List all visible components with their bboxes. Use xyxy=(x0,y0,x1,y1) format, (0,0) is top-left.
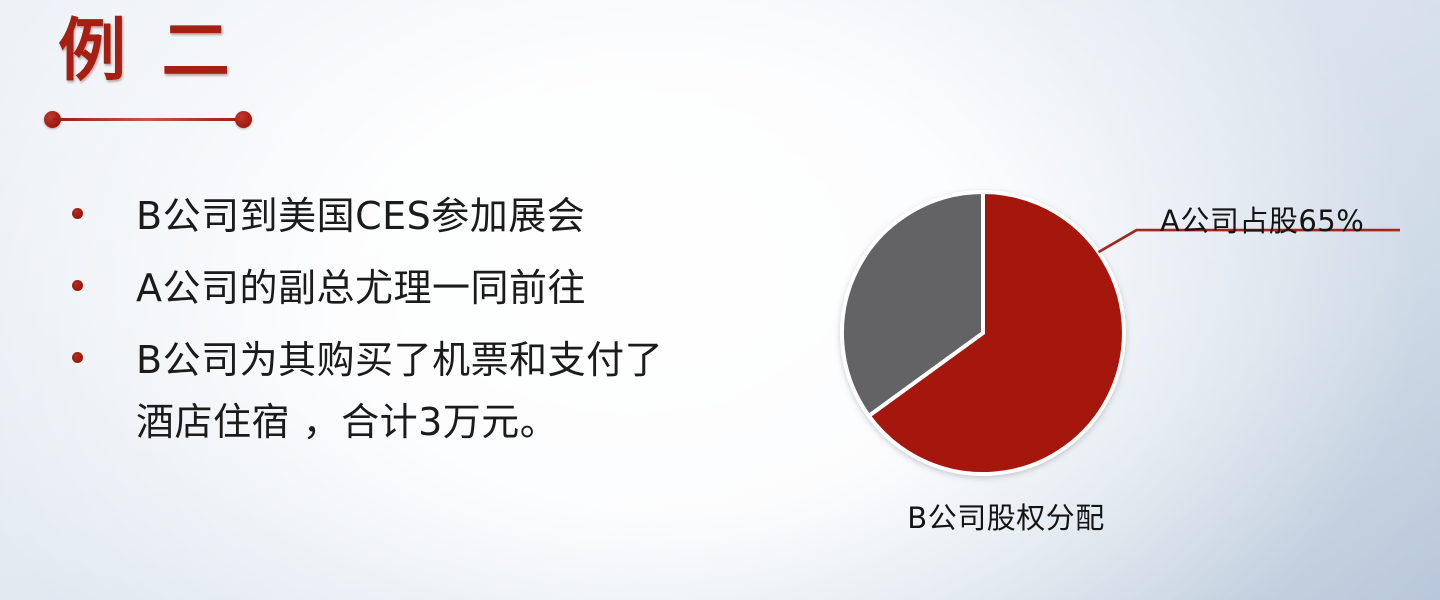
page-title: 例 二 xyxy=(58,18,398,86)
list-item-text: B公司为其购买了机票和支付了 酒店住宿 ，合计3万元。 xyxy=(136,330,663,454)
pie-chart: A公司占股65% B公司股权分配 xyxy=(820,170,1440,570)
list-item: B公司为其购买了机票和支付了 酒店住宿 ，合计3万元。 xyxy=(72,330,832,454)
title-underline-decoration xyxy=(44,110,252,130)
decorative-dot-right xyxy=(235,111,252,128)
bullet-list: B公司到美国CES参加展会 A公司的副总尤理一同前往 B公司为其购买了机票和支付… xyxy=(72,186,832,464)
list-item-text: B公司到美国CES参加展会 xyxy=(136,186,585,248)
pie-callout-label: A公司占股65% xyxy=(1160,198,1364,240)
presentation-slide: 例 二 B公司到美国CES参加展会 A公司的副总尤理一同前往 B公司为其购买了机… xyxy=(0,0,1440,600)
list-item: A公司的副总尤理一同前往 xyxy=(72,258,832,320)
bullet-dot-icon xyxy=(72,352,83,363)
bullet-dot-icon xyxy=(72,280,83,291)
decorative-line xyxy=(53,118,243,121)
bullet-dot-icon xyxy=(72,208,83,219)
chart-caption: B公司股权分配 xyxy=(866,495,1146,537)
title-block: 例 二 xyxy=(58,18,398,86)
list-item: B公司到美国CES参加展会 xyxy=(72,186,832,248)
list-item-text: A公司的副总尤理一同前往 xyxy=(136,258,586,320)
